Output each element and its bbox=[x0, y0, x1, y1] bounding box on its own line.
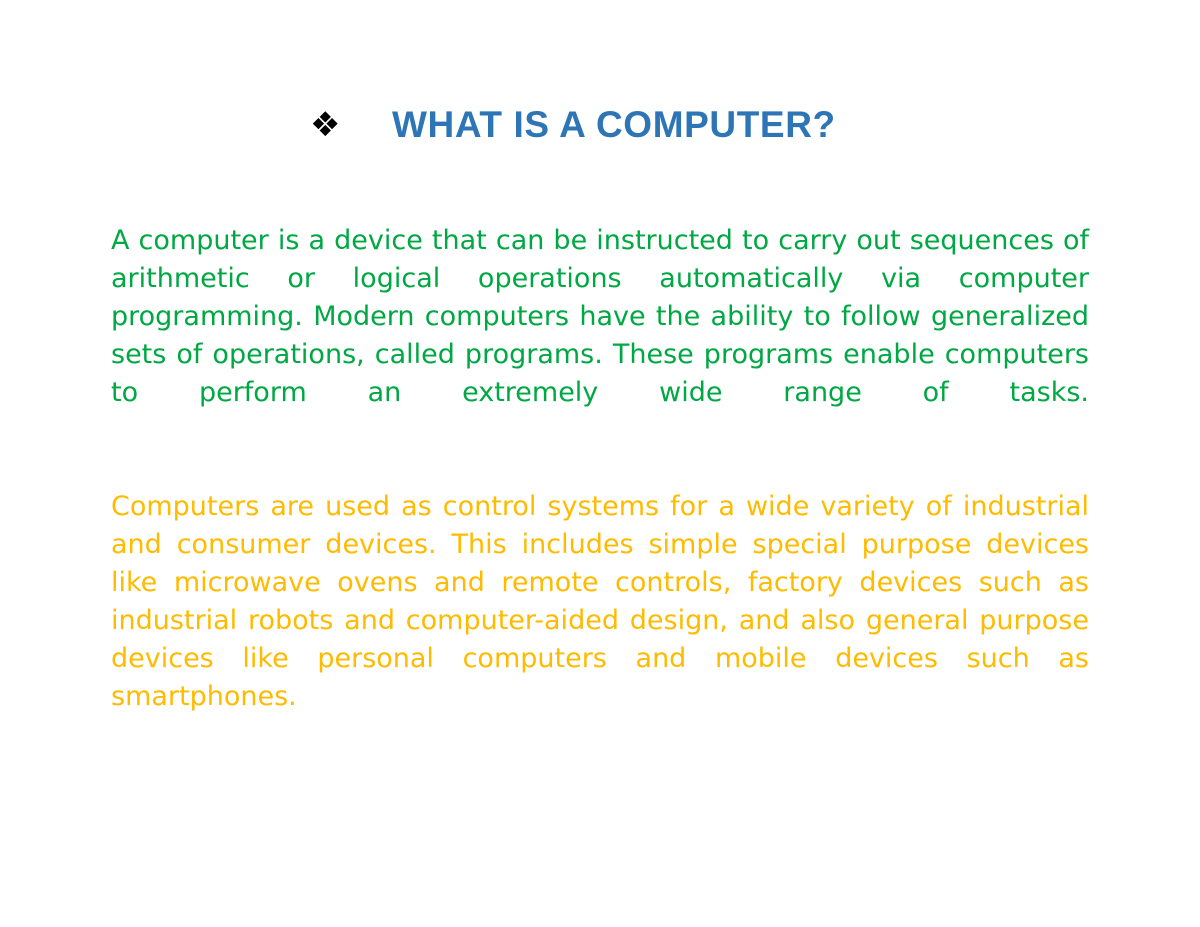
paragraph-definition: A computer is a device that can be instr… bbox=[111, 222, 1089, 450]
slide-canvas: ❖ WHAT IS A COMPUTER? A computer is a de… bbox=[0, 0, 1200, 927]
slide-body: A computer is a device that can be instr… bbox=[111, 222, 1089, 754]
diamond-bullet-icon: ❖ bbox=[310, 108, 340, 142]
page-title: WHAT IS A COMPUTER? bbox=[392, 104, 836, 145]
paragraph-applications: Computers are used as control systems fo… bbox=[111, 488, 1089, 754]
slide-title-row: ❖ WHAT IS A COMPUTER? bbox=[310, 104, 836, 145]
